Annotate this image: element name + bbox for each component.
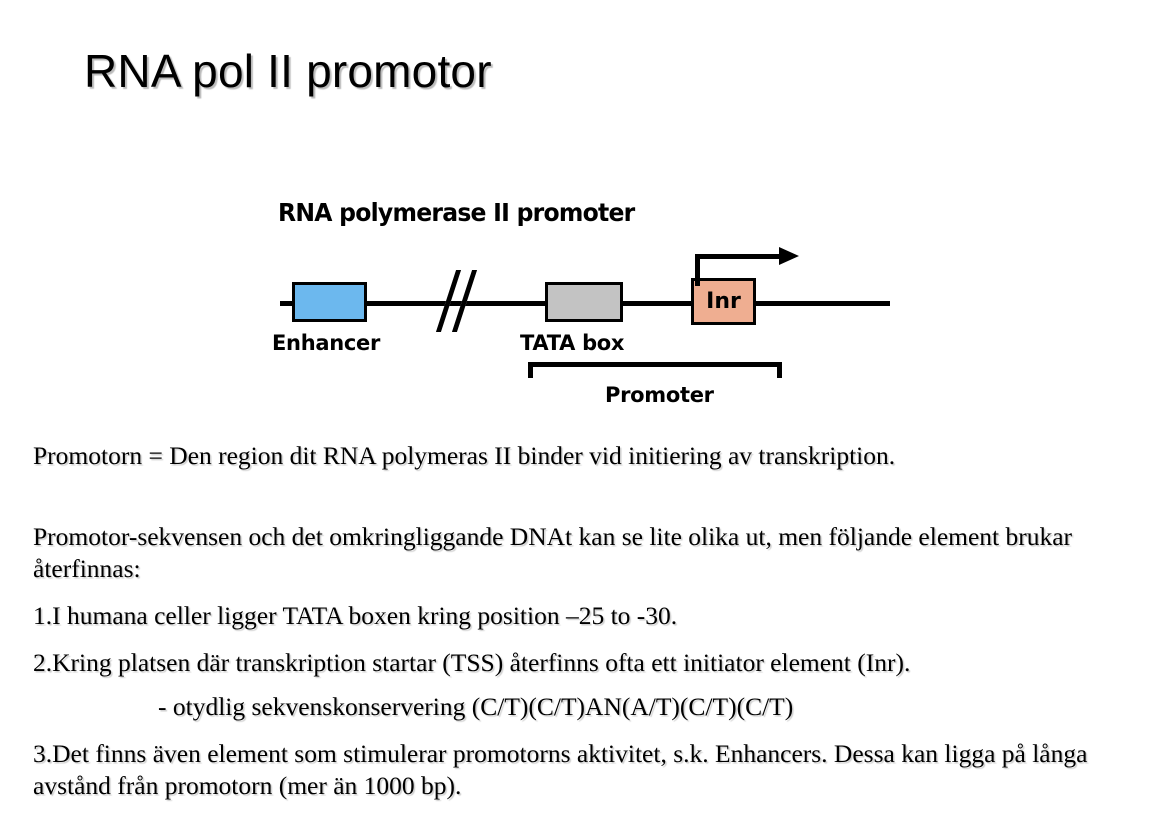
definition-paragraph: Promotorn = Den region dit RNA polymeras… [33, 440, 1123, 473]
inr-box: Inr [691, 278, 756, 325]
list-item: 3.Det finns även element som stimulerar … [33, 738, 1123, 803]
promoter-bracket-label: Promoter [605, 383, 714, 407]
promoter-span-bracket [528, 362, 782, 378]
dna-break-double-slash-icon [438, 270, 482, 334]
arrow-horizontal-stem [695, 254, 785, 259]
slide-body: Promotorn = Den region dit RNA polymeras… [33, 440, 1123, 803]
page-title: RNA pol II promotor [84, 44, 492, 98]
list-sub-item: - otydlig sekvenskonservering (C/T)(C/T)… [33, 691, 1123, 724]
list-item: 2.Kring platsen där transkription starta… [33, 647, 1123, 680]
enhancer-label: Enhancer [272, 331, 380, 355]
intro-paragraph: Promotor-sekvensen och det omkringliggan… [33, 521, 1123, 586]
enhancer-box [292, 282, 367, 322]
figure-title: RNA polymerase II promoter [278, 198, 635, 227]
paragraph-spacer [33, 473, 1123, 521]
transcription-start-arrow-icon [695, 246, 810, 282]
inr-box-label: Inr [706, 291, 741, 313]
promoter-diagram: RNA polymerase II promoter Inr Enhancer … [270, 198, 910, 428]
tata-box-label: TATA box [520, 331, 624, 355]
arrow-head [779, 247, 799, 265]
list-item: 1.I humana celler ligger TATA boxen krin… [33, 600, 1123, 633]
tata-box [545, 282, 623, 322]
